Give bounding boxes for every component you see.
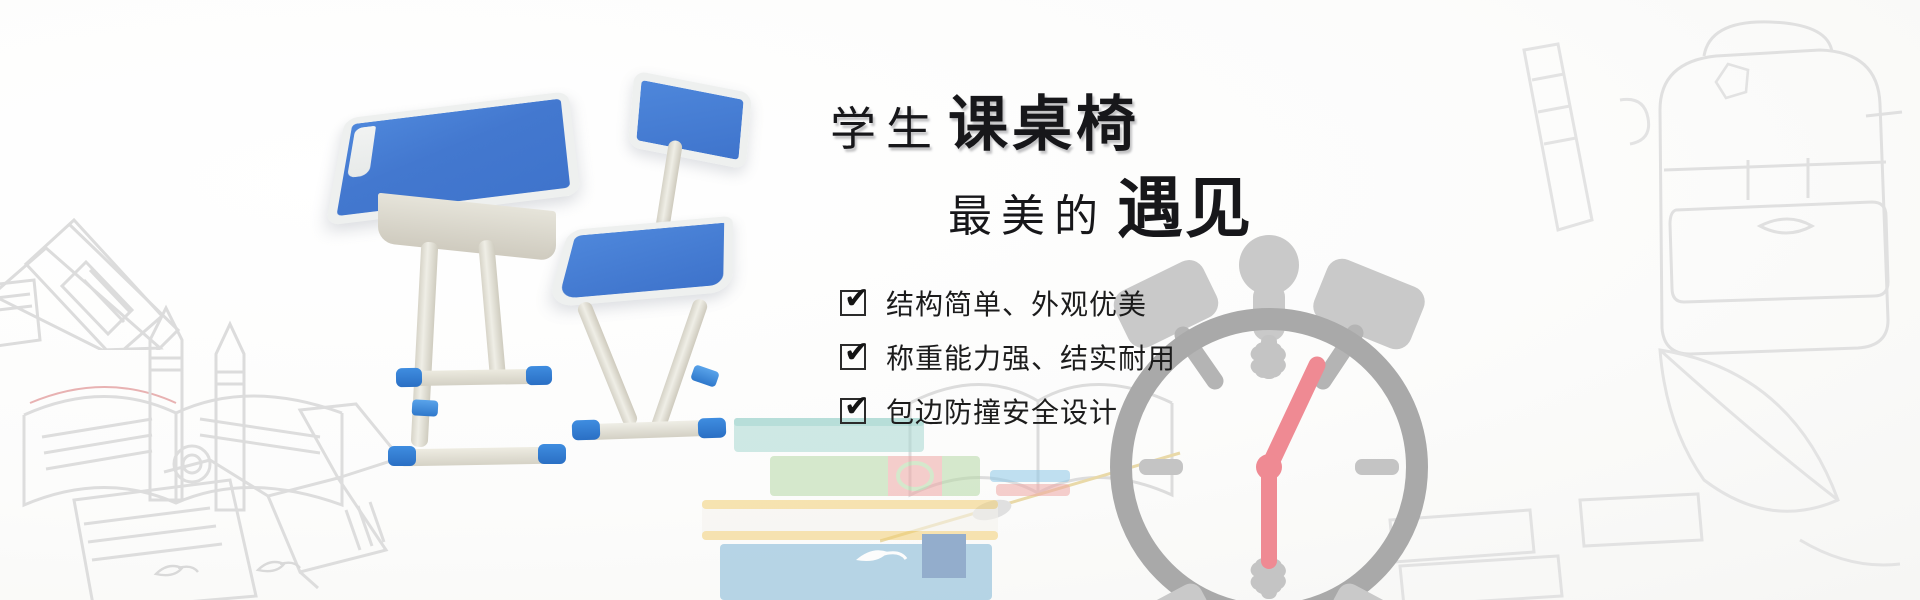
chair-foot-cap-left <box>572 420 601 441</box>
headline-lead-2: 最美的 <box>948 192 1107 241</box>
feature-list: ✔ 结构简单、外观优美 ✔ 称重能力强、结实耐用 ✔ 包边防撞安全设计 <box>830 283 1470 431</box>
promo-banner: 学生课桌椅 最美的遇见 ✔ 结构简单、外观优美 ✔ 称重能力强、结实耐用 ✔ <box>0 0 1920 600</box>
desk-drawer-apron <box>378 193 556 262</box>
desk-rail-cap-left <box>396 368 422 387</box>
chair-back-post <box>655 139 683 232</box>
leaf-outline <box>1650 330 1910 600</box>
feature-label: 称重能力强、结实耐用 <box>886 337 1176 377</box>
product-image-desk-chair <box>300 70 820 500</box>
headline-huge-2: 遇见 <box>1117 171 1253 245</box>
checkbox-checked-icon: ✔ <box>840 398 866 424</box>
check-glyph: ✔ <box>844 393 874 421</box>
chair-backrest <box>628 70 752 169</box>
feature-item: ✔ 结构简单、外观优美 <box>840 283 1470 323</box>
chair-seat <box>547 216 733 308</box>
banner-copy: 学生课桌椅 最美的遇见 ✔ 结构简单、外观优美 ✔ 称重能力强、结实耐用 ✔ <box>830 95 1470 445</box>
feature-item: ✔ 称重能力强、结实耐用 <box>840 337 1470 377</box>
check-glyph: ✔ <box>844 285 874 313</box>
headline-line-1: 学生课桌椅 <box>830 95 1470 155</box>
headline-line-2: 最美的遇见 <box>830 175 1470 241</box>
desk-rail-cap-right <box>526 366 552 385</box>
feature-label: 包边防撞安全设计 <box>886 391 1118 431</box>
feature-item: ✔ 包边防撞安全设计 <box>840 391 1470 431</box>
desk-foot-cap-right <box>538 444 566 464</box>
checkbox-checked-icon: ✔ <box>840 344 866 370</box>
books-outline-top-left <box>0 120 290 350</box>
desk-cross-rail <box>408 369 538 386</box>
feature-label: 结构简单、外观优美 <box>886 283 1147 323</box>
headline-lead-1: 学生 <box>830 104 942 155</box>
check-glyph: ✔ <box>844 339 874 367</box>
stationery-outline-top-right <box>1500 40 1680 240</box>
desk-foot-cap-left <box>388 446 416 466</box>
chair-foot-cap-right <box>698 418 727 439</box>
desk-leg-ring <box>412 399 439 416</box>
desk-foot-bar <box>396 447 556 467</box>
checkbox-checked-icon: ✔ <box>840 290 866 316</box>
desk-leg-back <box>478 240 506 379</box>
pencils-outline <box>130 300 270 530</box>
school-bag-outline <box>1620 20 1920 360</box>
headline-strong-1: 课桌椅 <box>948 92 1140 158</box>
chair-leg-ring-right <box>690 364 720 388</box>
chair-leg-left <box>576 300 639 428</box>
